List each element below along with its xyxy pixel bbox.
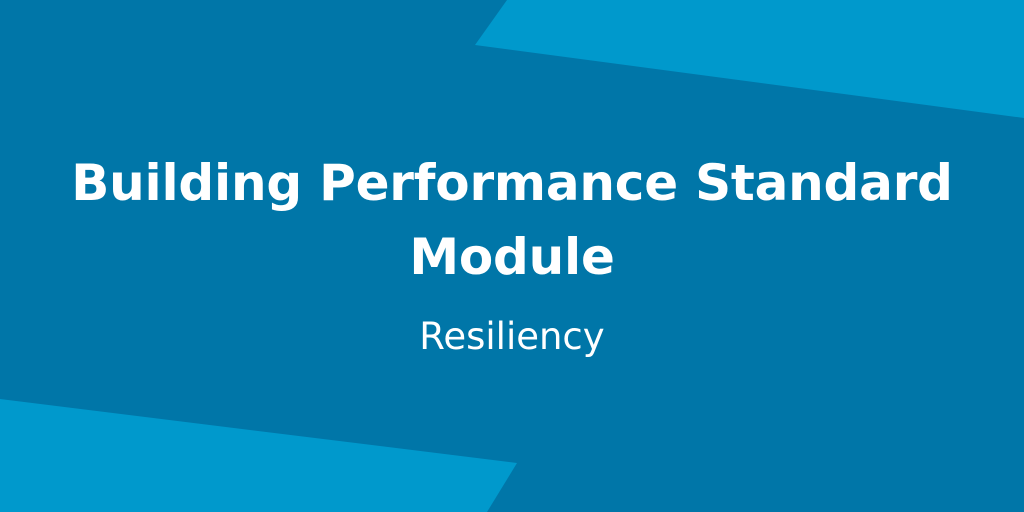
title-slide: Building Performance Standard Module Res…: [0, 0, 1024, 512]
slide-content: Building Performance Standard Module Res…: [0, 0, 1024, 512]
slide-title: Building Performance Standard Module: [0, 146, 1024, 294]
slide-title-line-2: Module: [0, 220, 1024, 294]
slide-subtitle: Resiliency: [0, 314, 1024, 360]
slide-title-line-1: Building Performance Standard: [0, 146, 1024, 220]
